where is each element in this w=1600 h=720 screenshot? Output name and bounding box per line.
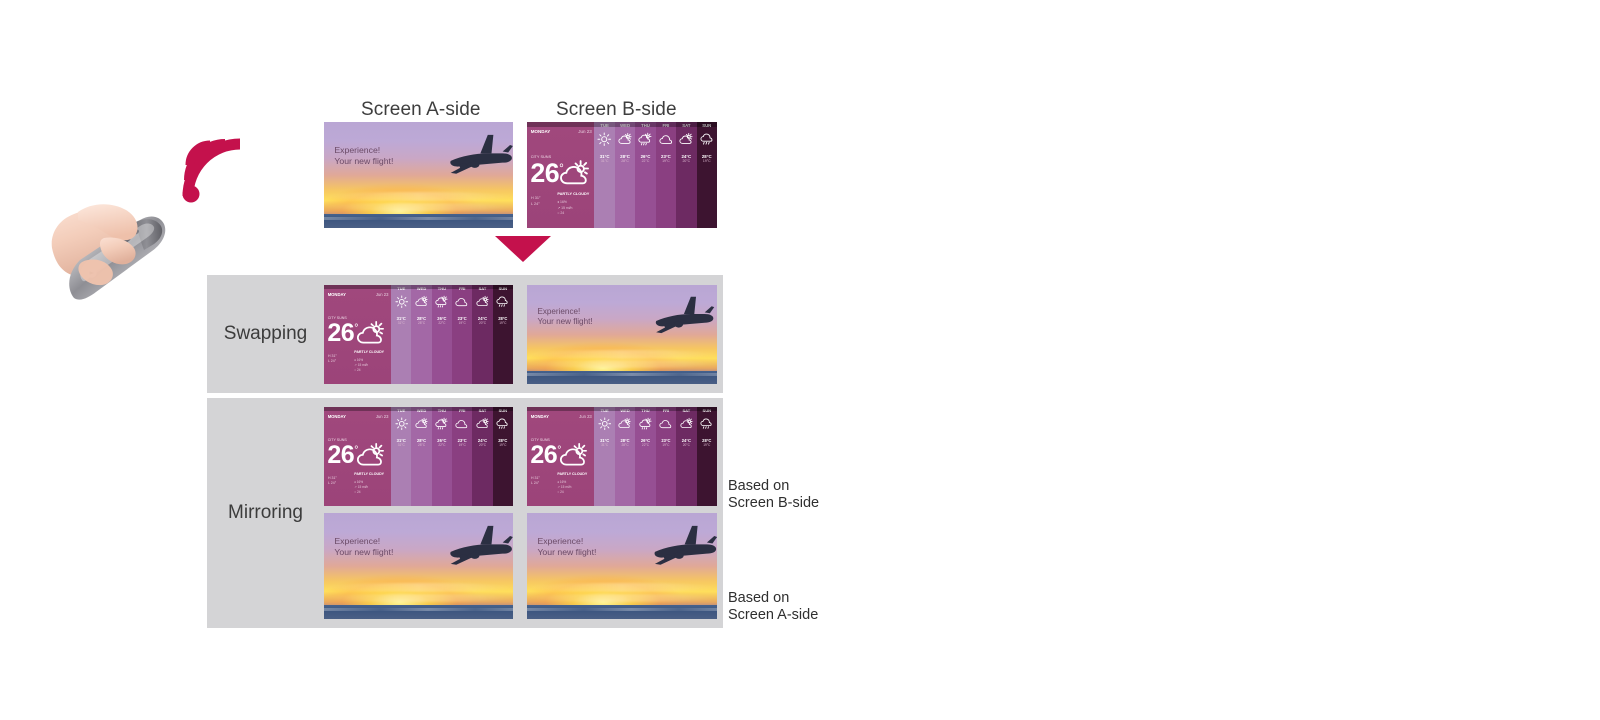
forecast-day-icon bbox=[496, 417, 510, 436]
sun-icon bbox=[395, 417, 409, 431]
weather-topbar bbox=[527, 407, 717, 411]
forecast-day-high: 28°C bbox=[498, 316, 507, 321]
note-based-on-screen-b: Based on Screen B-side bbox=[728, 478, 819, 512]
weather-description: PARTLY CLOUDY bbox=[354, 350, 384, 354]
forecast-day-high: 24°C bbox=[681, 154, 691, 159]
weather-forecast-day: WED28°C28°C bbox=[411, 407, 431, 506]
sun-rain-icon bbox=[435, 417, 449, 431]
weather-forecast-day: SAT24°C20°C bbox=[472, 407, 492, 506]
weather-forecast-day: SUN28°C19°C bbox=[697, 122, 717, 228]
forecast-day-icon bbox=[435, 417, 449, 436]
mirroring-label: Mirroring bbox=[207, 398, 324, 628]
weather-current-panel: MONDAYJun 23CITY SUNS26°H 31°L 24°PARTLY… bbox=[324, 407, 391, 506]
weather-forecast-strip: TUE31°C31°CWED28°C28°CTHU26°C22°CFRI23°C… bbox=[594, 122, 717, 228]
sun-cloud-icon bbox=[356, 441, 386, 471]
weather-current-panel: MONDAYJun 23CITY SUNS26°H 31°L 24°PARTLY… bbox=[527, 122, 594, 228]
weather-forecast-day: FRI23°C19°C bbox=[656, 122, 676, 228]
forecast-day-high: 28°C bbox=[620, 438, 629, 443]
forecast-day-low: 19°C bbox=[662, 443, 669, 447]
weather-forecast-day: SAT24°C20°C bbox=[676, 122, 696, 228]
forecast-day-high: 28°C bbox=[417, 316, 426, 321]
airplane-icon bbox=[422, 524, 513, 569]
sun-cloud-icon bbox=[559, 158, 591, 190]
weather-topbar bbox=[527, 122, 717, 127]
cloud-icon bbox=[455, 295, 469, 309]
weather-forecast-day: THU26°C22°C bbox=[432, 285, 452, 384]
forecast-day-icon bbox=[455, 417, 469, 436]
forecast-day-high: 24°C bbox=[682, 438, 691, 443]
forecast-day-icon bbox=[639, 417, 653, 436]
swapping-section: Swapping MONDAYJun 23CITY SUNS26°H 31°L … bbox=[207, 275, 723, 393]
forecast-day-high: 31°C bbox=[397, 316, 406, 321]
forecast-day-low: 22°C bbox=[642, 159, 650, 163]
magic-remote-icon bbox=[48, 176, 198, 306]
weather-high-low: H 31°L 24° bbox=[328, 354, 337, 364]
weather-forecast-day: FRI23°C19°C bbox=[452, 407, 472, 506]
flight-ad-headline: Experience! Your new flight! bbox=[334, 145, 393, 167]
weather-forecast-day: THU26°C22°C bbox=[432, 407, 452, 506]
weather-description: PARTLY CLOUDY bbox=[354, 472, 384, 476]
sun-cloud-icon bbox=[476, 417, 490, 431]
forecast-day-low: 19°C bbox=[499, 321, 506, 325]
weather-forecast-day: WED28°C28°C bbox=[411, 285, 431, 384]
weather-current-day: MONDAY bbox=[328, 414, 346, 419]
forecast-day-low: 22°C bbox=[438, 443, 445, 447]
cloud-icon bbox=[659, 417, 673, 431]
forecast-day-icon bbox=[598, 417, 612, 436]
sun-cloud-icon bbox=[680, 417, 694, 431]
sun-cloud-icon bbox=[559, 441, 589, 471]
screen-b-weather-widget: MONDAYJun 23CITY SUNS26°H 31°L 24°PARTLY… bbox=[527, 122, 717, 228]
forecast-day-high: 31°C bbox=[397, 438, 406, 443]
forecast-day-icon bbox=[395, 295, 409, 314]
forecast-day-low: 31°C bbox=[398, 321, 405, 325]
rain-cloud-icon bbox=[496, 417, 510, 431]
forecast-day-high: 26°C bbox=[437, 438, 446, 443]
ocean bbox=[324, 214, 513, 228]
forecast-day-low: 19°C bbox=[459, 321, 466, 325]
flight-ad-headline: Experience! Your new flight! bbox=[334, 536, 393, 558]
forecast-day-icon bbox=[680, 417, 694, 436]
weather-meta: ♦ 16%↗ 15 mi/h○ 24 bbox=[557, 200, 572, 216]
mirroring-section: Mirroring MONDAYJun 23CITY SUNS26°H 31°L… bbox=[207, 398, 723, 628]
forecast-day-high: 24°C bbox=[478, 438, 487, 443]
down-arrow-icon bbox=[495, 236, 551, 262]
weather-current-date: Jun 23 bbox=[376, 414, 389, 419]
airplane-icon bbox=[626, 524, 717, 569]
forecast-day-icon bbox=[435, 295, 449, 314]
mirroring-row1-screen-b-weather: MONDAYJun 23CITY SUNS26°H 31°L 24°PARTLY… bbox=[527, 407, 717, 506]
weather-description: PARTLY CLOUDY bbox=[557, 192, 589, 196]
weather-forecast-day: WED28°C28°C bbox=[615, 407, 635, 506]
weather-high-low: H 31°L 24° bbox=[328, 476, 337, 486]
forecast-day-icon bbox=[597, 132, 611, 151]
weather-current-day: MONDAY bbox=[531, 129, 551, 134]
mirroring-row2-screen-a-flight: Experience! Your new flight! bbox=[324, 513, 513, 619]
forecast-day-high: 23°C bbox=[458, 438, 467, 443]
forecast-day-icon bbox=[638, 132, 652, 151]
forecast-day-high: 23°C bbox=[661, 438, 670, 443]
weather-meta: ♦ 16%↗ 15 mi/h○ 24 bbox=[354, 358, 368, 373]
sun-cloud-icon bbox=[415, 417, 429, 431]
forecast-day-low: 31°C bbox=[398, 443, 405, 447]
weather-forecast-day: FRI23°C19°C bbox=[656, 407, 676, 506]
mirroring-row2-screen-b-flight: Experience! Your new flight! bbox=[527, 513, 717, 619]
sun-cloud-icon bbox=[415, 295, 429, 309]
sun-cloud-icon bbox=[679, 132, 693, 146]
swapping-screen-a-weather: MONDAYJun 23CITY SUNS26°H 31°L 24°PARTLY… bbox=[324, 285, 513, 384]
weather-forecast-day: SUN28°C19°C bbox=[493, 407, 513, 506]
sun-cloud-icon bbox=[356, 319, 386, 349]
forecast-day-low: 20°C bbox=[479, 443, 486, 447]
forecast-day-low: 19°C bbox=[459, 443, 466, 447]
forecast-day-high: 28°C bbox=[702, 154, 712, 159]
sun-rain-icon bbox=[435, 295, 449, 309]
forecast-day-icon bbox=[496, 295, 510, 314]
forecast-day-low: 31°C bbox=[601, 159, 609, 163]
weather-current-date: Jun 23 bbox=[376, 292, 389, 297]
forecast-day-low: 22°C bbox=[642, 443, 649, 447]
forecast-day-high: 28°C bbox=[702, 438, 711, 443]
swapping-screen-b-flight: Experience! Your new flight! bbox=[527, 285, 717, 384]
sun-cloud-icon bbox=[476, 295, 490, 309]
weather-forecast-day: TUE31°C31°C bbox=[594, 407, 614, 506]
forecast-day-low: 28°C bbox=[622, 443, 629, 447]
forecast-day-high: 24°C bbox=[478, 316, 487, 321]
forecast-day-high: 23°C bbox=[661, 154, 671, 159]
weather-topbar bbox=[324, 407, 513, 411]
mirroring-row1-screen-a-weather: MONDAYJun 23CITY SUNS26°H 31°L 24°PARTLY… bbox=[324, 407, 513, 506]
forecast-day-low: 28°C bbox=[418, 443, 425, 447]
weather-current-temp: 26° bbox=[327, 443, 358, 468]
weather-forecast-day: TUE31°C31°C bbox=[391, 407, 411, 506]
rain-cloud-icon bbox=[700, 132, 714, 146]
weather-current-day: MONDAY bbox=[531, 414, 549, 419]
weather-topbar bbox=[324, 285, 513, 289]
weather-current-day: MONDAY bbox=[328, 292, 346, 297]
weather-forecast-day: SUN28°C19°C bbox=[697, 407, 717, 506]
forecast-day-low: 19°C bbox=[703, 443, 710, 447]
weather-high-low: H 31°L 24° bbox=[531, 476, 540, 486]
ocean bbox=[527, 371, 717, 384]
forecast-day-icon bbox=[618, 132, 632, 151]
forecast-day-high: 26°C bbox=[641, 438, 650, 443]
forecast-day-low: 28°C bbox=[621, 159, 629, 163]
forecast-day-high: 23°C bbox=[458, 316, 467, 321]
weather-current-temp: 26° bbox=[327, 321, 358, 346]
forecast-day-low: 19°C bbox=[499, 443, 506, 447]
forecast-day-low: 20°C bbox=[683, 159, 691, 163]
forecast-day-icon bbox=[618, 417, 632, 436]
weather-forecast-day: SUN28°C19°C bbox=[493, 285, 513, 384]
forecast-day-icon bbox=[455, 295, 469, 314]
sun-rain-icon bbox=[639, 417, 653, 431]
weather-forecast-strip: TUE31°C31°CWED28°C28°CTHU26°C22°CFRI23°C… bbox=[391, 407, 513, 506]
sun-icon bbox=[395, 295, 409, 309]
weather-forecast-strip: TUE31°C31°CWED28°C28°CTHU26°C22°CFRI23°C… bbox=[391, 285, 513, 384]
forecast-day-icon bbox=[395, 417, 409, 436]
forecast-day-icon bbox=[659, 132, 673, 151]
forecast-day-icon bbox=[415, 417, 429, 436]
forecast-day-low: 28°C bbox=[418, 321, 425, 325]
forecast-day-icon bbox=[700, 132, 714, 151]
caption-screen-a: Screen A-side bbox=[361, 99, 481, 121]
forecast-day-high: 26°C bbox=[437, 316, 446, 321]
forecast-day-low: 20°C bbox=[479, 321, 486, 325]
forecast-day-low: 19°C bbox=[662, 159, 670, 163]
forecast-day-icon bbox=[476, 417, 490, 436]
forecast-day-high: 31°C bbox=[600, 154, 610, 159]
forecast-day-low: 20°C bbox=[683, 443, 690, 447]
forecast-day-high: 28°C bbox=[498, 438, 507, 443]
weather-main-icon bbox=[356, 319, 386, 354]
rain-cloud-icon bbox=[496, 295, 510, 309]
weather-current-date: Jun 23 bbox=[579, 414, 592, 419]
weather-forecast-strip: TUE31°C31°CWED28°C28°CTHU26°C22°CFRI23°C… bbox=[594, 407, 717, 506]
sun-rain-icon bbox=[638, 132, 652, 146]
rain-cloud-icon bbox=[700, 417, 714, 431]
forecast-day-high: 31°C bbox=[600, 438, 609, 443]
weather-forecast-day: TUE31°C31°C bbox=[594, 122, 614, 228]
forecast-day-icon bbox=[700, 417, 714, 436]
weather-main-icon bbox=[559, 441, 589, 476]
weather-description: PARTLY CLOUDY bbox=[557, 472, 587, 476]
weather-current-panel: MONDAYJun 23CITY SUNS26°H 31°L 24°PARTLY… bbox=[527, 407, 594, 506]
forecast-day-high: 26°C bbox=[641, 154, 651, 159]
weather-meta: ♦ 16%↗ 15 mi/h○ 24 bbox=[354, 480, 368, 495]
weather-forecast-day: WED28°C28°C bbox=[615, 122, 635, 228]
weather-high-low: H 31°L 24° bbox=[531, 196, 540, 207]
flight-ad-headline: Experience! Your new flight! bbox=[537, 536, 596, 558]
weather-forecast-day: THU26°C22°C bbox=[635, 407, 655, 506]
ocean bbox=[324, 605, 513, 619]
forecast-day-icon bbox=[476, 295, 490, 314]
weather-current-date: Jun 23 bbox=[578, 129, 592, 134]
note-based-on-screen-a: Based on Screen A-side bbox=[728, 590, 818, 624]
cloud-icon bbox=[455, 417, 469, 431]
forecast-day-low: 19°C bbox=[703, 159, 711, 163]
weather-main-icon bbox=[356, 441, 386, 476]
weather-current-panel: MONDAYJun 23CITY SUNS26°H 31°L 24°PARTLY… bbox=[324, 285, 391, 384]
forecast-day-icon bbox=[679, 132, 693, 151]
forecast-day-high: 28°C bbox=[620, 154, 630, 159]
forecast-day-high: 28°C bbox=[417, 438, 426, 443]
weather-forecast-day: FRI23°C19°C bbox=[452, 285, 472, 384]
screen-a-flight-ad: Experience! Your new flight! bbox=[324, 122, 513, 228]
forecast-day-low: 31°C bbox=[601, 443, 608, 447]
airplane-icon bbox=[626, 295, 717, 337]
weather-forecast-day: SAT24°C20°C bbox=[676, 407, 696, 506]
swapping-label: Swapping bbox=[207, 275, 324, 393]
weather-meta: ♦ 16%↗ 15 mi/h○ 24 bbox=[557, 480, 571, 495]
ocean bbox=[527, 605, 717, 619]
flight-ad-headline: Experience! Your new flight! bbox=[537, 307, 592, 328]
forecast-day-icon bbox=[415, 295, 429, 314]
weather-forecast-day: TUE31°C31°C bbox=[391, 285, 411, 384]
weather-main-icon bbox=[559, 158, 591, 195]
forecast-day-low: 22°C bbox=[438, 321, 445, 325]
airplane-icon bbox=[422, 133, 513, 178]
weather-current-temp: 26° bbox=[530, 443, 561, 468]
caption-screen-b: Screen B-side bbox=[556, 99, 677, 121]
forecast-day-icon bbox=[659, 417, 673, 436]
weather-forecast-day: THU26°C22°C bbox=[635, 122, 655, 228]
cloud-icon bbox=[659, 132, 673, 146]
sun-icon bbox=[597, 132, 611, 146]
sun-cloud-icon bbox=[618, 132, 632, 146]
weather-forecast-day: SAT24°C20°C bbox=[472, 285, 492, 384]
sun-icon bbox=[598, 417, 612, 431]
sun-cloud-icon bbox=[618, 417, 632, 431]
